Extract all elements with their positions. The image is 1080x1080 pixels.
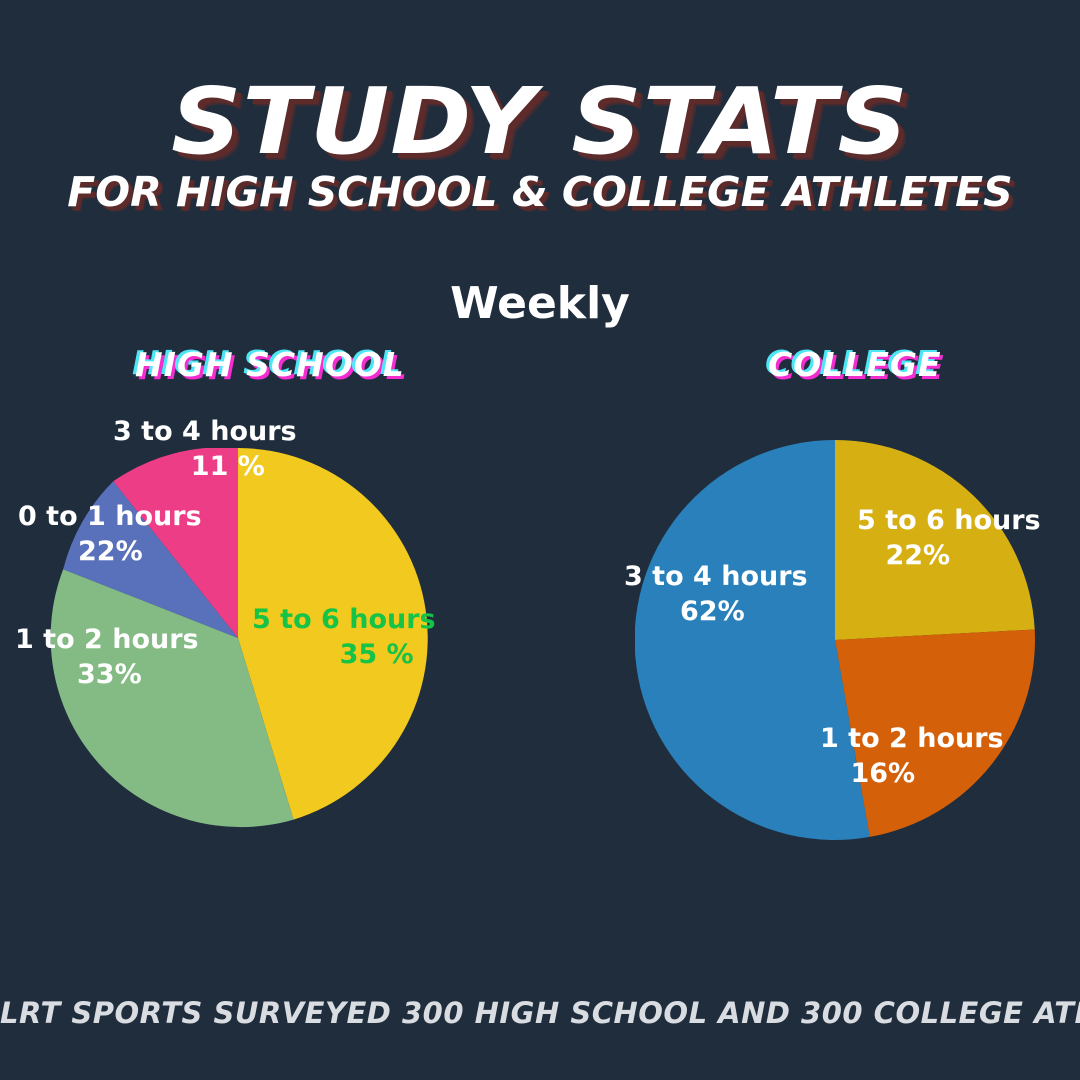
pie-label-col-5-to-6-hours: 5 to 6 hours 22% bbox=[857, 504, 1041, 573]
pie-label-percent: 35 % bbox=[252, 638, 436, 673]
infographic-canvas: STUDY STATS FOR HIGH SCHOOL & COLLEGE AT… bbox=[0, 0, 1080, 1080]
pie-label-hs-3-to-4-hours: 3 to 4 hours 11 % bbox=[113, 415, 297, 484]
panel-heading-college: COLLEGE bbox=[768, 345, 942, 384]
pie-label-name: 0 to 1 hours bbox=[18, 501, 202, 532]
pie-label-percent: 33% bbox=[15, 658, 199, 693]
page-subtitle: FOR HIGH SCHOOL & COLLEGE ATHLETES bbox=[0, 172, 1080, 213]
pie-label-name: 1 to 2 hours bbox=[15, 624, 199, 655]
pie-label-name: 3 to 4 hours bbox=[624, 561, 808, 592]
pie-label-percent: 16% bbox=[820, 757, 1004, 792]
pie-label-name: 5 to 6 hours bbox=[252, 604, 436, 635]
section-heading-weekly: Weekly bbox=[0, 278, 1080, 329]
title-block: STUDY STATS FOR HIGH SCHOOL & COLLEGE AT… bbox=[0, 78, 1080, 213]
page-title: STUDY STATS bbox=[0, 78, 1080, 166]
pie-label-percent: 22% bbox=[857, 539, 1041, 574]
pie-label-name: 5 to 6 hours bbox=[857, 505, 1041, 536]
pie-label-hs-1-to-2-hours: 1 to 2 hours 33% bbox=[15, 623, 199, 692]
pie-label-col-3-to-4-hours: 3 to 4 hours 62% bbox=[624, 560, 808, 629]
panel-heading-high-school: HIGH SCHOOL bbox=[135, 345, 405, 384]
pie-label-col-1-to-2-hours: 1 to 2 hours 16% bbox=[820, 722, 1004, 791]
pie-label-name: 3 to 4 hours bbox=[113, 416, 297, 447]
pie-label-name: 1 to 2 hours bbox=[820, 723, 1004, 754]
pie-label-percent: 11 % bbox=[113, 450, 297, 485]
pie-label-percent: 62% bbox=[624, 595, 808, 630]
footer-note: LRT SPORTS SURVEYED 300 HIGH SCHOOL AND … bbox=[0, 996, 1080, 1030]
pie-label-percent: 22% bbox=[18, 535, 202, 570]
pie-label-hs-0-to-1-hours: 0 to 1 hours 22% bbox=[18, 500, 202, 569]
pie-label-hs-5-to-6-hours: 5 to 6 hours 35 % bbox=[252, 603, 436, 672]
